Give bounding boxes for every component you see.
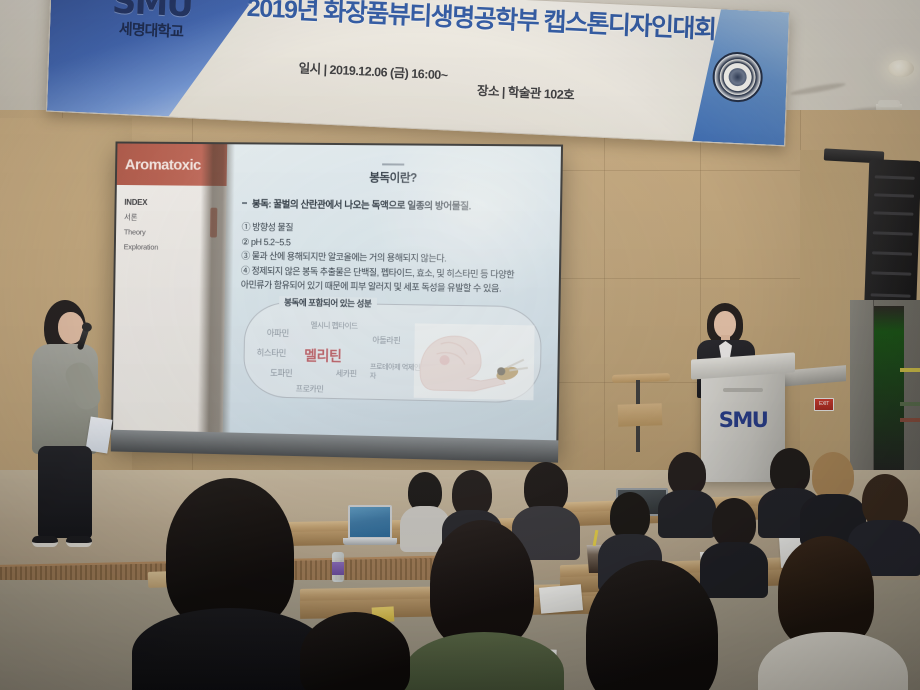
podium-logo-text: SMU [701,408,785,432]
component-dopamine: 도파민 [270,366,292,378]
podium-handle [723,388,763,392]
component-melittin: 멜리틴 [304,345,342,366]
water-bottle[interactable] [332,552,344,582]
venom-components-label: 봉독에 포함되어 있는 성분 [279,296,376,310]
screen-surface: Aromatoxic INDEX 서론 Theory Exploration 봉… [113,143,561,452]
presentation-hall-scene: EXIT SMU 세명대학교 2019년 화장품뷰티생명공학부 캡스톤디자인대회… [0,0,920,690]
rack-indicator [900,368,920,372]
presenter-shoe [66,536,92,547]
exit-sign: EXIT [814,398,834,411]
banner-place: 장소 | 학술관 102호 [477,80,575,104]
podium-presenter-face [714,311,736,338]
laptop[interactable] [348,505,392,539]
smu-logo: SMU 세명대학교 [76,0,228,44]
side-table-shelf [618,403,663,427]
banner-date: 일시 | 2019.12.06 (금) 16:00~ [298,57,448,83]
slide-index-header-title: Aromatoxic [125,156,201,173]
rack-interior [874,306,904,476]
banner-title: 2019년 화장품뷰티생명공학부 캡스톤디자인대회 [246,0,727,47]
component-histamine: 히스타민 [256,346,286,359]
laptop-screen [348,505,392,539]
component-apamin: 아파민 [267,326,289,338]
bee-sting-photo [414,323,535,400]
handout-paper[interactable] [539,584,583,614]
presenter-with-microphone [18,300,114,550]
bottle-label [332,562,344,575]
av-equipment-rack[interactable] [850,300,920,485]
component-secapin: 세카핀 [336,368,357,379]
rack-door[interactable] [850,300,874,485]
component-mcd-peptide: 멜시니 펩타이드 [311,319,358,331]
laptop-base [343,538,397,545]
component-adolapin: 아돌라핀 [372,334,400,346]
projection-screen: Aromatoxic INDEX 서론 Theory Exploration 봉… [111,141,563,454]
banner-subtitle-row: 일시 | 2019.12.06 (금) 16:00~ 장소 | 학술관 102호 [298,57,719,110]
presenter-shoe [32,536,58,547]
rack-indicator [900,418,920,422]
component-procamine: 프로카민 [296,383,324,395]
presenter-pants [38,446,92,538]
ceiling-light [888,60,914,77]
rack-indicator [900,402,920,406]
pillar-shadow-overlay [197,144,235,444]
venom-components-box: 봉독에 포함되어 있는 성분 아파민 멜시니 펩타이드 아돌라핀 히스타민 멜리… [243,301,542,403]
exit-sign-label: EXIT [815,399,833,410]
